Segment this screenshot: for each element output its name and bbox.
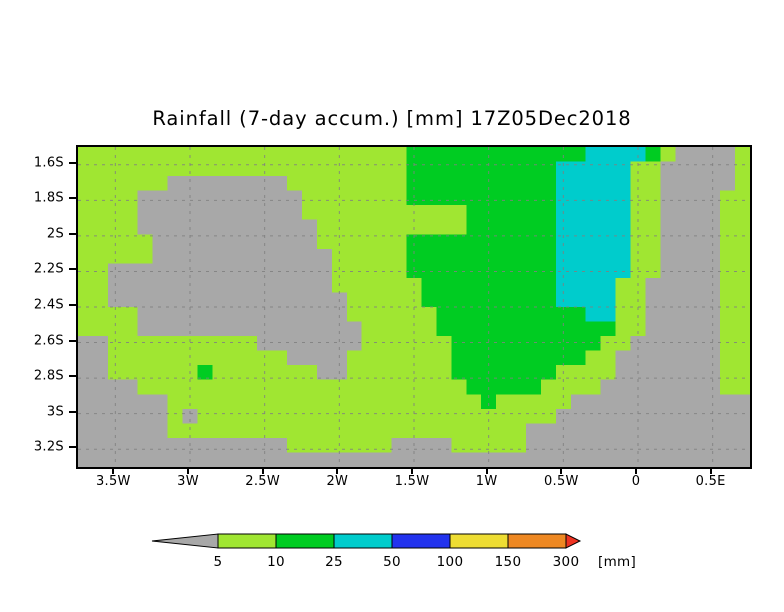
y-axis-tick-label: 3.2S xyxy=(0,440,64,455)
x-axis-tick-label: 0.5E xyxy=(696,474,726,489)
colorbar-swatches xyxy=(150,528,670,554)
y-axis-tick-mark xyxy=(69,162,76,164)
x-axis-tick-label: 3.5W xyxy=(96,474,131,489)
colorbar-tick-label: 150 xyxy=(495,554,522,570)
x-axis-tick-mark xyxy=(411,467,413,474)
x-axis-tick-mark xyxy=(635,467,637,474)
x-axis-tick-label: 1W xyxy=(476,474,498,489)
x-axis-tick-label: 0 xyxy=(632,474,641,489)
y-axis-tick-label: 1.8S xyxy=(0,191,64,206)
y-axis-tick-label: 2.8S xyxy=(0,369,64,384)
y-axis-tick-label: 2.2S xyxy=(0,262,64,277)
colorbar-unit-label: [mm] xyxy=(598,554,636,570)
y-axis-tick-label: 2.6S xyxy=(0,333,64,348)
page-title: Rainfall (7-day accum.) [mm] 17Z05Dec201… xyxy=(0,107,784,130)
y-axis-tick-mark xyxy=(69,375,76,377)
y-axis-tick-label: 2S xyxy=(0,226,64,241)
y-axis-tick-mark xyxy=(69,340,76,342)
heatmap-canvas xyxy=(78,147,750,467)
x-axis-tick-label: 2.5W xyxy=(245,474,280,489)
x-axis-tick-mark xyxy=(112,467,114,474)
y-axis-tick-label: 2.4S xyxy=(0,298,64,313)
y-axis-tick-mark xyxy=(69,233,76,235)
y-axis-tick-label: 3S xyxy=(0,404,64,419)
x-axis-tick-label: 0.5W xyxy=(544,474,579,489)
rainfall-map-figure: Rainfall (7-day accum.) [mm] 17Z05Dec201… xyxy=(0,0,784,612)
colorbar-tick-label: 10 xyxy=(267,554,285,570)
x-axis-tick-mark xyxy=(336,467,338,474)
colorbar: 5102550100150300 [mm] xyxy=(150,528,670,584)
colorbar-tick-label: 300 xyxy=(553,554,580,570)
x-axis-tick-mark xyxy=(187,467,189,474)
colorbar-tick-label: 100 xyxy=(437,554,464,570)
y-axis-tick-mark xyxy=(69,411,76,413)
x-axis-tick-mark xyxy=(262,467,264,474)
plot-area xyxy=(76,145,752,469)
y-axis-tick-mark xyxy=(69,197,76,199)
x-axis-tick-label: 1.5W xyxy=(395,474,430,489)
x-axis-tick-label: 2W xyxy=(326,474,348,489)
x-axis-tick-mark xyxy=(710,467,712,474)
y-axis-tick-mark xyxy=(69,268,76,270)
y-axis-tick-label: 1.6S xyxy=(0,155,64,170)
colorbar-tick-label: 50 xyxy=(383,554,401,570)
heatmap-raster xyxy=(78,147,750,467)
x-axis-tick-label: 3W xyxy=(177,474,199,489)
colorbar-tick-label: 25 xyxy=(325,554,343,570)
colorbar-tick-label: 5 xyxy=(214,554,223,570)
x-axis-tick-mark xyxy=(560,467,562,474)
x-axis-tick-mark xyxy=(486,467,488,474)
y-axis-tick-mark xyxy=(69,446,76,448)
y-axis-tick-mark xyxy=(69,304,76,306)
